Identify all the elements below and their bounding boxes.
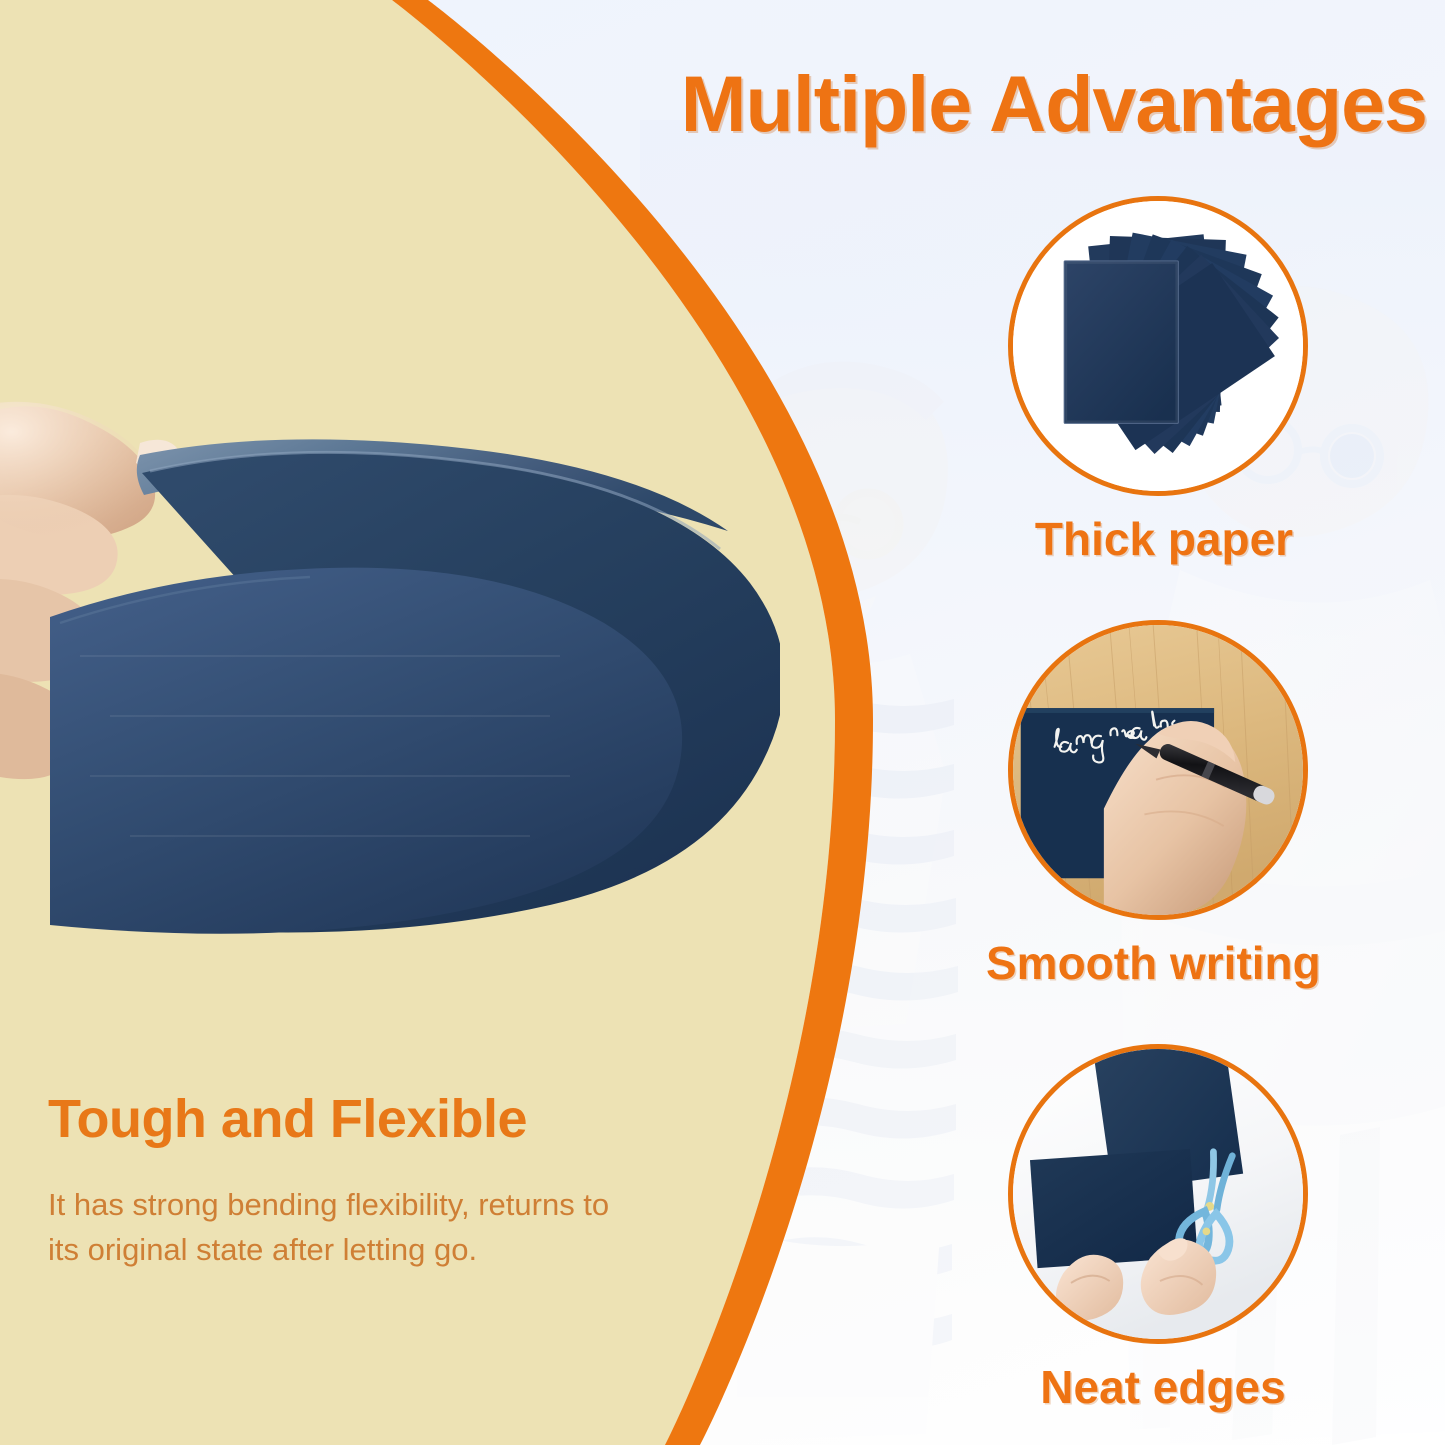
left-body-line-1: It has strong bending flexibility, retur… — [48, 1183, 748, 1228]
left-section-body: It has strong bending flexibility, retur… — [48, 1183, 748, 1273]
feature-neat-edges-caption: Neat edges — [1018, 1360, 1308, 1414]
feature-smooth-writing-image — [1008, 620, 1308, 920]
feature-smooth-writing: Smooth writing — [1008, 620, 1308, 990]
feature-thick-paper-caption: Thick paper — [1020, 512, 1308, 566]
poster-canvas: Multiple Advantages Tough and Flexible I… — [0, 0, 1445, 1445]
feature-thick-paper: Thick paper — [1008, 196, 1308, 566]
left-body-line-2: its original state after letting go. — [48, 1228, 748, 1273]
hand-bending-paper-photo — [0, 355, 780, 975]
feature-smooth-writing-caption: Smooth writing — [986, 936, 1308, 990]
left-section-title: Tough and Flexible — [48, 1088, 527, 1150]
feature-neat-edges: Neat edges — [1008, 1044, 1308, 1414]
feature-thick-paper-image — [1008, 196, 1308, 496]
page-title: Multiple Advantages — [681, 58, 1427, 150]
feature-neat-edges-image — [1008, 1044, 1308, 1344]
